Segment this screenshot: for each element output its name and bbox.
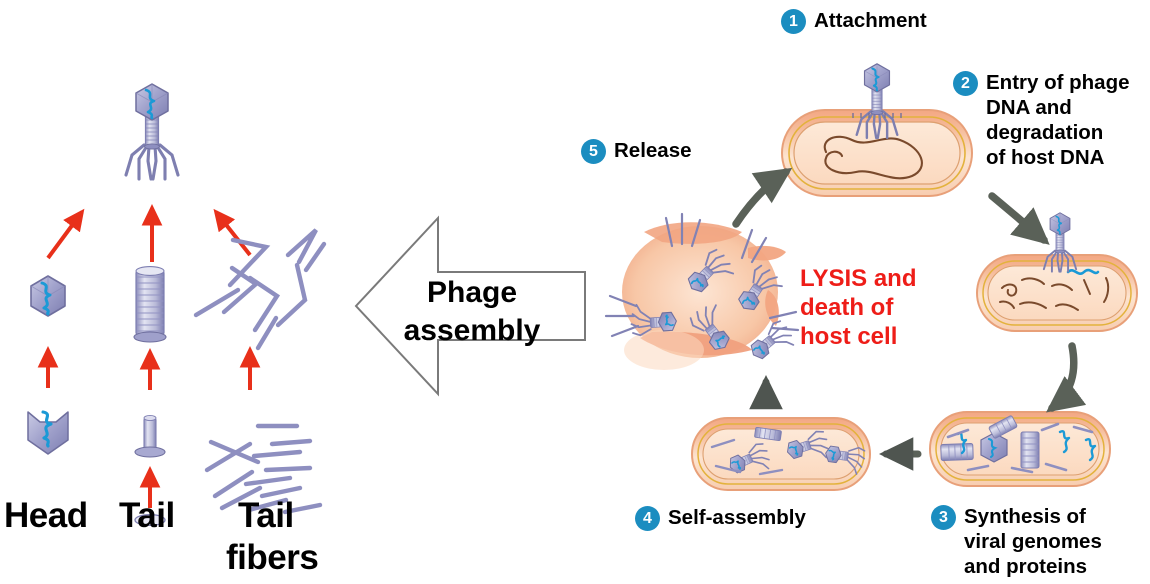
label-tail-fibers-line1: Tail [238, 496, 294, 535]
phage-assembly-label-line2: assembly [382, 314, 562, 349]
step-label-synthesis-line1: Synthesis of [964, 506, 1086, 529]
cell-lysis-release [606, 214, 798, 370]
head-filled [31, 276, 65, 316]
step-label-entry-line4: of host DNA [986, 147, 1104, 170]
tail-fibers-bent [196, 230, 324, 348]
lysis-annotation-line3: host cell [800, 323, 897, 351]
label-tail: Tail [119, 496, 175, 535]
step-badge-1: 1 [781, 9, 806, 34]
step-label-synthesis-line2: viral genomes [964, 531, 1102, 554]
diagram-canvas: Head Tail Tail fibers Phage assembly 1 A… [0, 0, 1150, 584]
step-badge-5: 5 [581, 139, 606, 164]
tail-sheath [134, 267, 166, 342]
assembly-arrows-top [48, 208, 250, 262]
tail-core [135, 415, 165, 457]
cell-attachment [782, 110, 972, 196]
step-label-entry-line2: DNA and [986, 97, 1072, 120]
step-label-self-assembly: Self-assembly [668, 507, 806, 530]
step-label-synthesis-line3: and proteins [964, 556, 1087, 579]
step-label-entry-line1: Entry of phage [986, 72, 1130, 95]
lysis-annotation-line2: death of [800, 294, 893, 322]
cell-synthesis [930, 412, 1110, 486]
cell-entry [977, 255, 1137, 331]
step-label-release: Release [614, 140, 692, 163]
step-badge-4: 4 [635, 506, 660, 531]
cell-self-assembly [692, 418, 870, 490]
phage-assembly-label-line1: Phage [392, 276, 552, 311]
step-badge-2: 2 [953, 71, 978, 96]
label-tail-fibers-line2: fibers [226, 538, 318, 577]
step-badge-3: 3 [931, 505, 956, 530]
label-head: Head [4, 496, 88, 535]
head-open [28, 412, 68, 454]
lysis-annotation-line1: LYSIS and [800, 265, 916, 293]
step-label-attachment: Attachment [814, 10, 927, 33]
step-label-entry-line3: degradation [986, 122, 1103, 145]
